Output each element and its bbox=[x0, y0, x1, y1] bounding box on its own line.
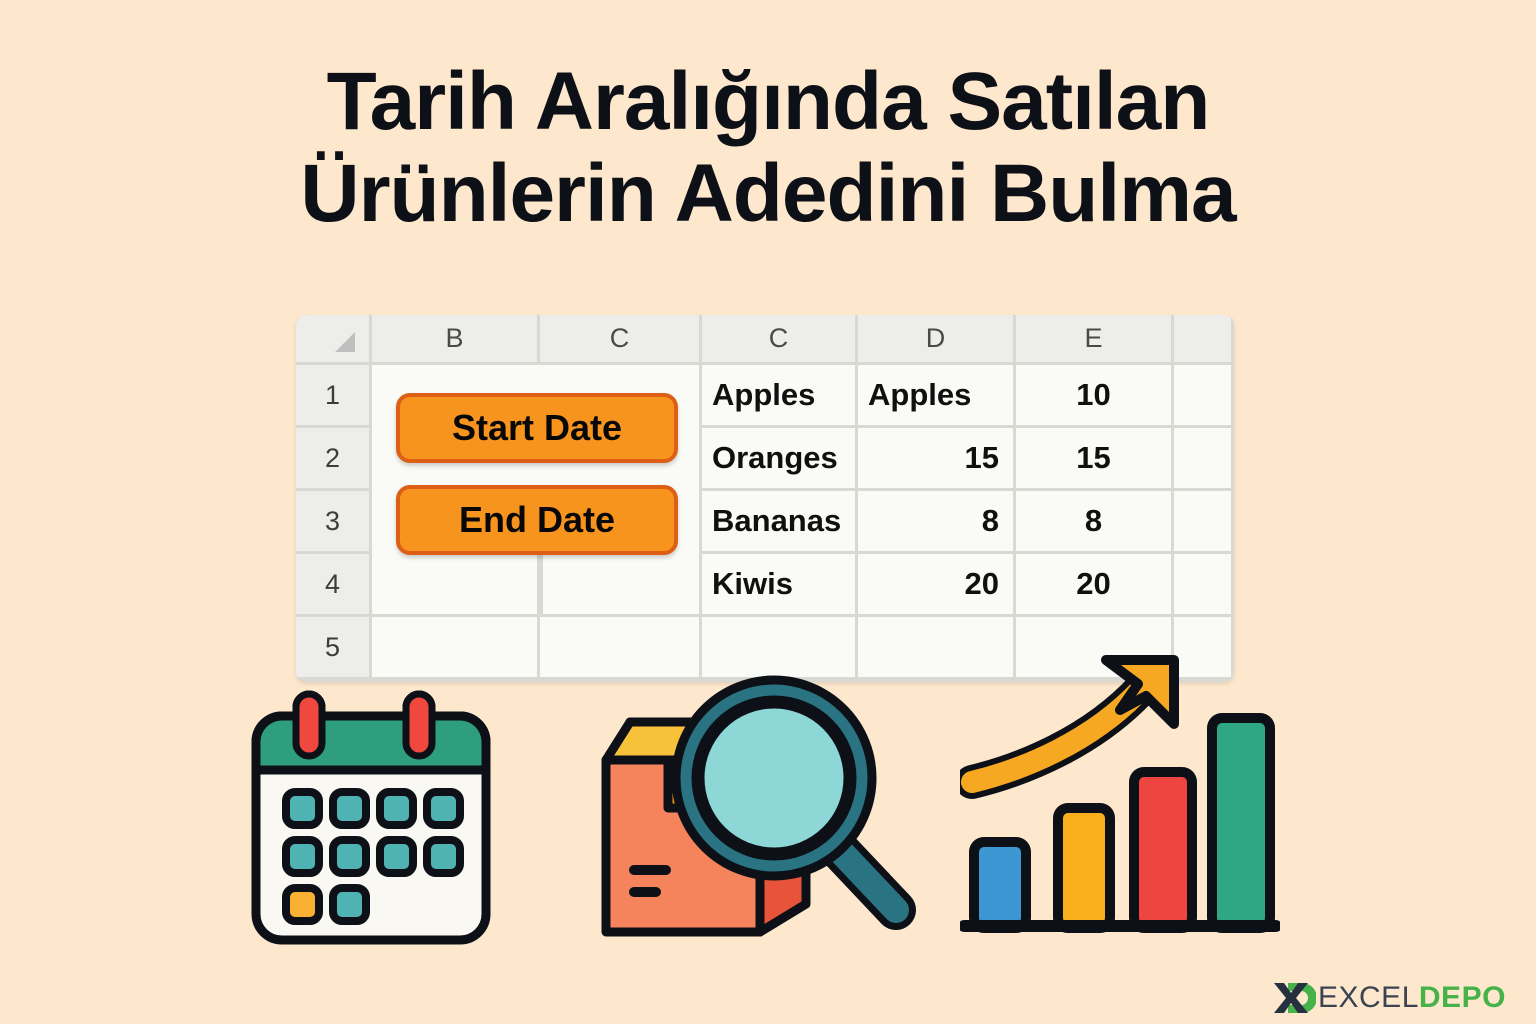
illustration-row bbox=[0, 640, 1536, 970]
column-header-c1[interactable]: C bbox=[540, 315, 702, 365]
cell-qty-d-2[interactable]: 15 bbox=[858, 428, 1016, 491]
table-row: 4 Kiwis 20 20 bbox=[296, 554, 1234, 617]
cell-f4[interactable] bbox=[1174, 554, 1234, 617]
calendar-icon bbox=[248, 688, 500, 961]
cell-product-1-text: Apples bbox=[712, 377, 815, 413]
row-header-1[interactable]: 1 bbox=[296, 365, 372, 428]
cell-product-3-text: Bananas bbox=[712, 503, 841, 539]
start-date-button[interactable]: Start Date bbox=[396, 393, 678, 463]
logo-word-depo: DEPO bbox=[1419, 981, 1506, 1015]
xd-logo-mark-icon bbox=[1272, 981, 1316, 1015]
column-header-c2[interactable]: C bbox=[702, 315, 858, 365]
cell-product-2-text: Oranges bbox=[712, 440, 838, 476]
excel-depo-logo: EXCEL DEPO bbox=[1272, 978, 1506, 1018]
cell-qty-d-4[interactable]: 20 bbox=[858, 554, 1016, 617]
row-header-2[interactable]: 2 bbox=[296, 428, 372, 491]
cell-qty-d-2-text: 15 bbox=[965, 440, 999, 476]
cell-product-4-text: Kiwis bbox=[712, 566, 793, 602]
select-all-triangle-icon bbox=[335, 332, 355, 352]
cell-f3[interactable] bbox=[1174, 491, 1234, 554]
spreadsheet-grid[interactable]: B C C D E 1 Apples Apples 10 2 Oranges 1… bbox=[296, 315, 1234, 682]
column-header-f[interactable] bbox=[1174, 315, 1234, 365]
column-header-e[interactable]: E bbox=[1016, 315, 1174, 365]
column-divider-b-c-row4 bbox=[540, 554, 543, 617]
cell-f1[interactable] bbox=[1174, 365, 1234, 428]
start-date-button-label: Start Date bbox=[452, 407, 622, 449]
column-header-b[interactable]: B bbox=[372, 315, 540, 365]
page-title-line-1: Tarih Aralığında Satılan bbox=[0, 56, 1536, 148]
cell-qty-d-1-text: Apples bbox=[868, 377, 971, 413]
cell-qty-e-4-text: 20 bbox=[1076, 566, 1110, 602]
cell-qty-e-1[interactable]: 10 bbox=[1016, 365, 1174, 428]
row-header-4[interactable]: 4 bbox=[296, 554, 372, 617]
cell-product-1[interactable]: Apples bbox=[702, 365, 858, 428]
page-title-line-2: Ürünlerin Adedini Bulma bbox=[0, 148, 1536, 240]
cell-qty-d-3-text: 8 bbox=[982, 503, 999, 539]
cell-c4[interactable] bbox=[540, 554, 702, 617]
cell-b4[interactable] bbox=[372, 554, 540, 617]
cell-qty-e-4[interactable]: 20 bbox=[1016, 554, 1174, 617]
cell-qty-d-1[interactable]: Apples bbox=[858, 365, 1016, 428]
cell-qty-e-3-text: 8 bbox=[1085, 503, 1102, 539]
cell-qty-d-4-text: 20 bbox=[965, 566, 999, 602]
cell-qty-e-2[interactable]: 15 bbox=[1016, 428, 1174, 491]
cell-product-2[interactable]: Oranges bbox=[702, 428, 858, 491]
column-header-row: B C C D E bbox=[296, 315, 1234, 365]
cell-product-4[interactable]: Kiwis bbox=[702, 554, 858, 617]
logo-word-excel: EXCEL bbox=[1318, 981, 1419, 1015]
cell-qty-e-2-text: 15 bbox=[1076, 440, 1110, 476]
cell-product-3[interactable]: Bananas bbox=[702, 491, 858, 554]
column-header-d[interactable]: D bbox=[858, 315, 1016, 365]
cell-qty-e-1-text: 10 bbox=[1076, 377, 1110, 413]
bar-chart-growth-icon bbox=[960, 650, 1280, 955]
end-date-button-label: End Date bbox=[459, 499, 615, 541]
cell-qty-d-3[interactable]: 8 bbox=[858, 491, 1016, 554]
row-header-3[interactable]: 3 bbox=[296, 491, 372, 554]
end-date-button[interactable]: End Date bbox=[396, 485, 678, 555]
box-search-icon bbox=[578, 660, 938, 955]
page-title: Tarih Aralığında Satılan Ürünlerin Adedi… bbox=[0, 56, 1536, 240]
select-all-corner[interactable] bbox=[296, 315, 372, 365]
cell-qty-e-3[interactable]: 8 bbox=[1016, 491, 1174, 554]
cell-f2[interactable] bbox=[1174, 428, 1234, 491]
